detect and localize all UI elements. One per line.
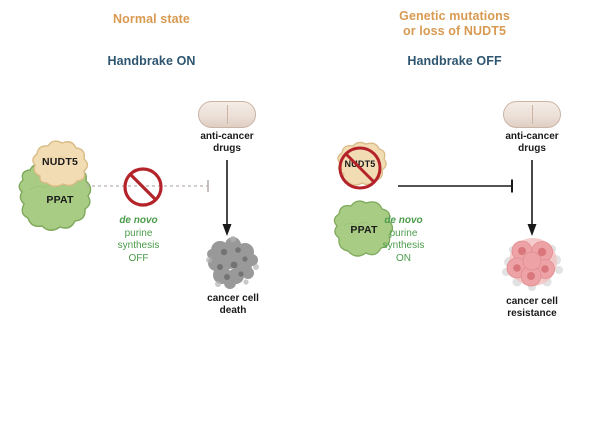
- panel-title-normal: Normal state: [0, 12, 303, 27]
- panel-subtitle-normal: Handbrake ON: [0, 54, 303, 68]
- panel-mutant-state: Genetic mutations or loss of NUDT5 Handb…: [303, 0, 606, 434]
- pathway-line-3: synthesis: [383, 240, 425, 251]
- pill-icon: [503, 101, 561, 128]
- pill-icon: [198, 101, 256, 128]
- outcome-caption-normal: cancer cell death: [168, 293, 298, 317]
- resistant-cell-cluster-icon: [497, 232, 569, 294]
- pathway-line-4: OFF: [129, 253, 149, 264]
- pathway-line-2: purine: [390, 228, 418, 239]
- panel-title-mutant: Genetic mutations or loss of NUDT5: [303, 9, 606, 39]
- outcome-caption-line-2: resistance: [507, 308, 556, 319]
- drug-caption-line-1: anti-cancer: [200, 131, 253, 142]
- outcome-caption-line-1: cancer cell: [506, 296, 558, 307]
- diagram-canvas: Normal state Handbrake ON NUDT5 PPAT: [0, 0, 606, 434]
- drug-caption-line-2: drugs: [518, 143, 546, 154]
- outcome-caption-mutant: cancer cell resistance: [467, 296, 597, 320]
- drug-to-outcome-arrow: [219, 160, 235, 238]
- outcome-caption-line-1: cancer cell: [207, 293, 259, 304]
- pathway-line-3: synthesis: [118, 240, 160, 251]
- drug-caption-mutant: anti-cancer drugs: [467, 131, 597, 155]
- outcome-caption-line-2: death: [220, 305, 247, 316]
- drug-caption-line-2: drugs: [213, 143, 241, 154]
- nudt5-blob: [33, 141, 88, 186]
- inhibition-connector-solid: [398, 179, 518, 193]
- panel-title-mutant-line-2: or loss of NUDT5: [403, 24, 506, 38]
- drug-caption-line-1: anti-cancer: [505, 131, 558, 142]
- panel-title-mutant-line-1: Genetic mutations: [399, 9, 510, 23]
- prohibition-icon: [335, 143, 385, 193]
- drug-caption-normal: anti-cancer drugs: [162, 131, 292, 155]
- pathway-line-1: de novo: [384, 215, 422, 226]
- panel-subtitle-mutant: Handbrake OFF: [303, 54, 606, 68]
- pathway-line-2: purine: [125, 228, 153, 239]
- prohibition-icon: [121, 165, 165, 209]
- protein-nudt5-lost: NUDT5: [330, 140, 390, 196]
- pathway-line-4: ON: [396, 253, 411, 264]
- drug-to-outcome-arrow: [524, 160, 540, 238]
- pathway-line-1: de novo: [119, 215, 157, 226]
